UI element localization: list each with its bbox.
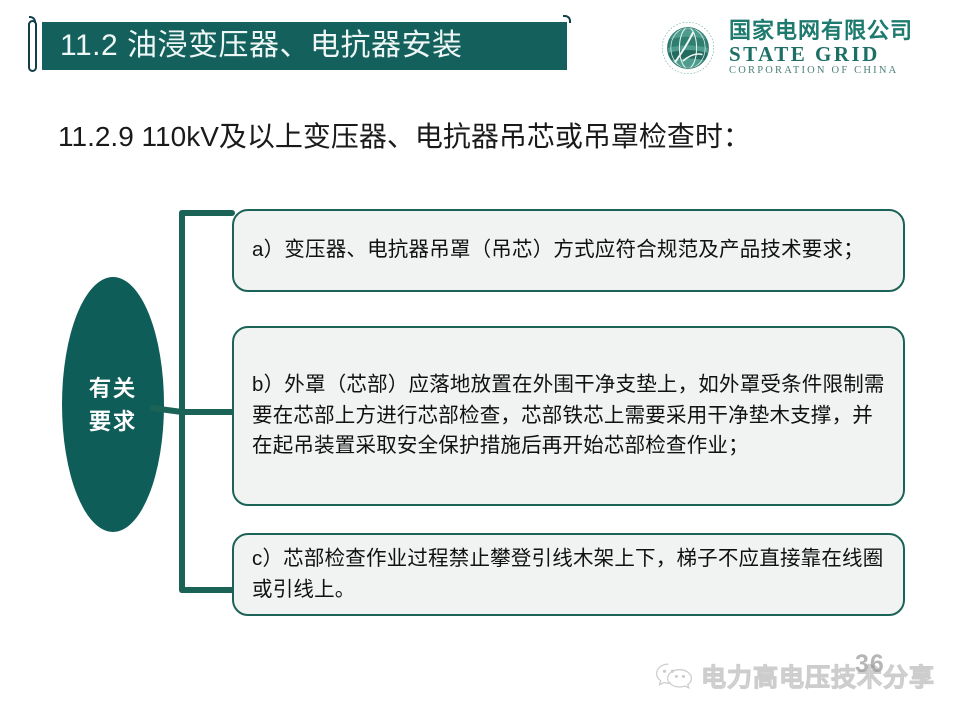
note-box-b-text: b）外罩（芯部）应落地放置在外围干净支垫上，如外罩受条件限制需要在芯部上方进行芯… [252,370,887,462]
state-grid-globe-icon [655,15,721,81]
watermark-text: 电力高电压技术分享 [701,658,935,694]
diagram-root-node: 有关 要求 [62,277,164,532]
note-box-a-text: a）变压器、电抗器吊罩（吊芯）方式应符合规范及产品技术要求； [252,235,864,266]
wechat-watermark: 电力高电压技术分享 [655,655,935,697]
logo-english-subtitle: CORPORATION OF CHINA [729,65,913,78]
state-grid-logo-text: 国家电网有限公司 STATE GRID CORPORATION OF CHINA [729,19,913,77]
state-grid-logo: 国家电网有限公司 STATE GRID CORPORATION OF CHINA [655,12,950,84]
quote-bracket-right-icon [563,15,571,23]
note-box-b: b）外罩（芯部）应落地放置在外围干净支垫上，如外罩受条件限制需要在芯部上方进行芯… [232,326,905,506]
quote-bracket-left-icon [28,20,37,72]
note-box-c-text: c）芯部检查作业过程禁止攀登引线木架上下，梯子不应直接靠在线圈或引线上。 [252,544,887,606]
root-node-label-line1: 有关 [89,372,137,405]
slide-title: 11.2 油浸变压器、电抗器安装 [42,31,463,61]
logo-chinese-name: 国家电网有限公司 [729,19,913,43]
note-box-c: c）芯部检查作业过程禁止攀登引线木架上下，梯子不应直接靠在线圈或引线上。 [232,533,905,616]
logo-english-name: STATE GRID [729,43,913,65]
wechat-icon [655,661,693,691]
section-heading: 11.2.9 110kV及以上变压器、电抗器吊芯或吊罩检查时： [58,120,751,154]
note-box-a: a）变压器、电抗器吊罩（吊芯）方式应符合规范及产品技术要求； [232,209,905,292]
slide-canvas: 11.2 油浸变压器、电抗器安装 国家电网有限公司 STATE GRID [0,0,960,720]
slide-title-bar: 11.2 油浸变压器、电抗器安装 [42,22,567,70]
root-node-label-line2: 要求 [89,405,137,438]
